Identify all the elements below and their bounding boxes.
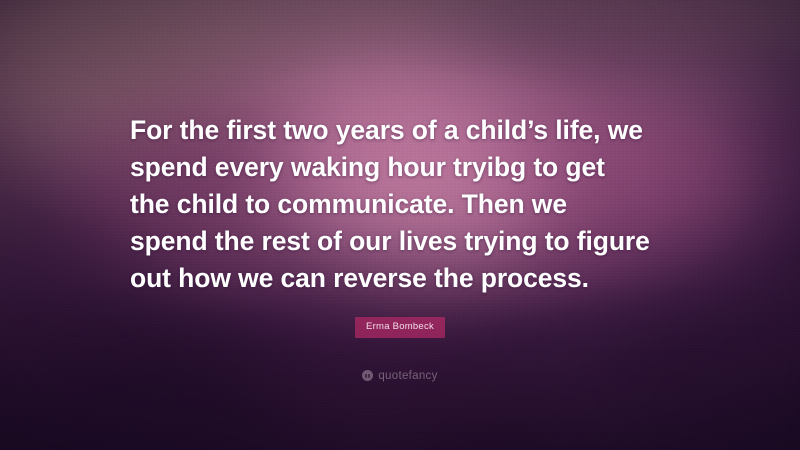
watermark-label: quotefancy <box>378 370 437 382</box>
quote-line: For the first two years of a child’s lif… <box>130 112 670 149</box>
quote-content: For the first two years of a child’s lif… <box>0 0 800 450</box>
quote-mark-circle-icon <box>362 370 373 381</box>
quote-line: spend every waking hour tryibg to get <box>130 149 670 186</box>
quote-image-canvas: For the first two years of a child’s lif… <box>0 0 800 450</box>
quote-text: For the first two years of a child’s lif… <box>130 112 670 297</box>
quotefancy-watermark[interactable]: quotefancy <box>362 370 437 382</box>
quote-line: the child to communicate. Then we <box>130 186 670 223</box>
author-name-badge[interactable]: Erma Bombeck <box>355 317 445 338</box>
quote-line: spend the rest of our lives trying to fi… <box>130 223 670 260</box>
quote-line: out how we can reverse the process. <box>130 260 670 297</box>
